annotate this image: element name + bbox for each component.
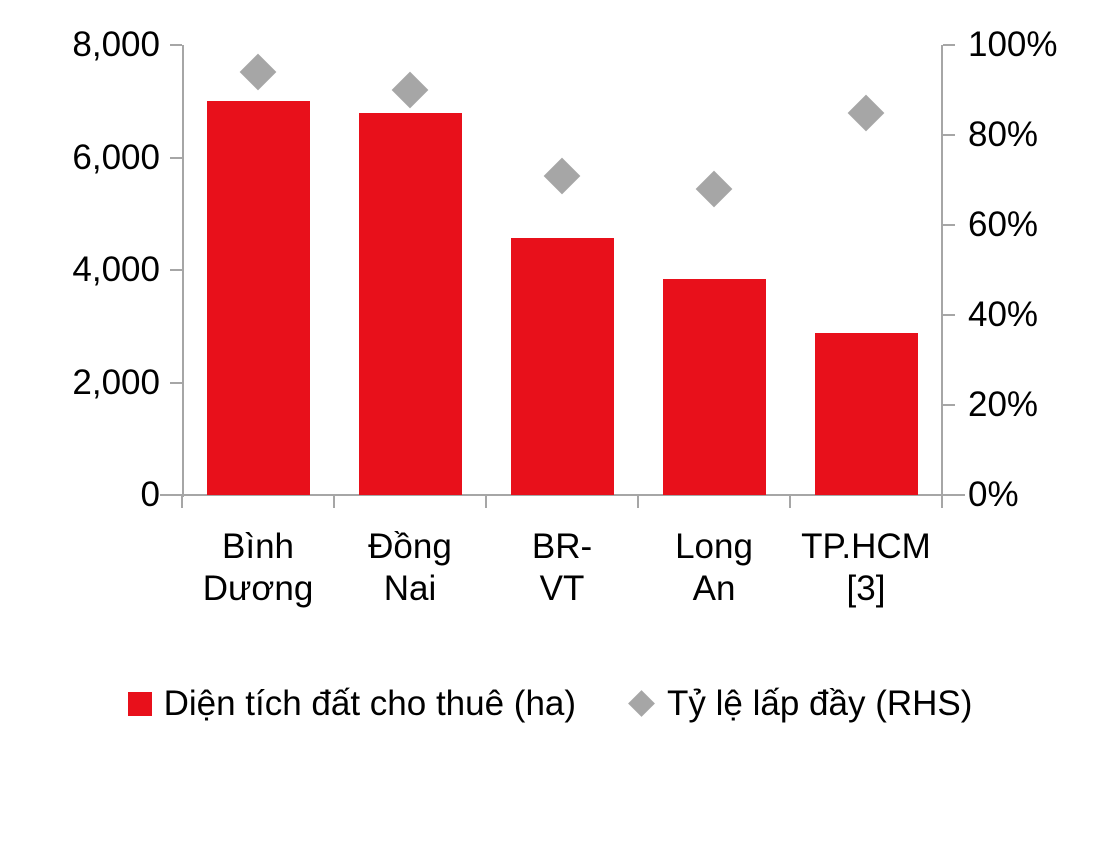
right-axis-tick <box>943 314 955 316</box>
diamond-marker <box>848 94 885 131</box>
right-axis-line <box>941 45 943 497</box>
x-axis-tick <box>637 494 639 508</box>
right-axis-tick-label: 40% <box>968 297 1098 332</box>
chart-legend: Diện tích đất cho thuê (ha)Tỷ lệ lấp đầy… <box>0 686 1100 721</box>
bar <box>815 333 918 495</box>
right-axis-tick-label: 100% <box>968 27 1098 62</box>
x-axis-tick <box>485 494 487 508</box>
right-axis-tick-label: 80% <box>968 117 1098 152</box>
category-label-line: [3] <box>776 568 956 610</box>
x-axis-category-label: TP.HCM[3] <box>776 526 956 610</box>
right-axis-tick <box>943 494 955 496</box>
diamond-marker <box>392 72 429 109</box>
left-axis-tick-label: 8,000 <box>0 27 160 62</box>
left-axis-tick <box>170 382 182 384</box>
right-axis-tick-label: 60% <box>968 207 1098 242</box>
left-axis-tick <box>170 269 182 271</box>
legend-label: Diện tích đất cho thuê (ha) <box>164 686 576 721</box>
x-axis-tick <box>333 494 335 508</box>
diamond-marker <box>240 54 277 91</box>
chart-container: 02,0004,0006,0008,000 0%20%40%60%80%100%… <box>0 0 1100 842</box>
legend-square-icon <box>128 692 152 716</box>
x-axis-tick <box>941 494 943 508</box>
diamond-marker <box>696 171 733 208</box>
category-label-line: TP.HCM <box>776 526 956 568</box>
legend-diamond-icon <box>628 690 655 717</box>
left-axis-tick-label: 0 <box>0 477 160 512</box>
left-axis-line <box>182 45 184 497</box>
right-axis-tick-label: 0% <box>968 477 1098 512</box>
right-axis-tick <box>943 44 955 46</box>
left-axis-tick-label: 4,000 <box>0 252 160 287</box>
left-axis-tick-label: 2,000 <box>0 365 160 400</box>
x-axis-tick <box>181 494 183 508</box>
right-axis-tick-label: 20% <box>968 387 1098 422</box>
bar <box>511 238 614 495</box>
left-axis-tick <box>170 157 182 159</box>
left-axis-tick-label: 6,000 <box>0 140 160 175</box>
diamond-marker <box>544 157 581 194</box>
bar <box>663 279 766 495</box>
legend-item[interactable]: Tỷ lệ lấp đầy (RHS) <box>628 686 972 721</box>
right-axis-tick <box>943 224 955 226</box>
legend-label: Tỷ lệ lấp đầy (RHS) <box>667 686 972 721</box>
bar <box>359 113 462 496</box>
right-axis-tick <box>943 404 955 406</box>
x-axis-tick <box>789 494 791 508</box>
left-axis-tick <box>170 44 182 46</box>
legend-item[interactable]: Diện tích đất cho thuê (ha) <box>128 686 576 721</box>
right-axis-tick <box>943 134 955 136</box>
bar <box>207 101 310 495</box>
